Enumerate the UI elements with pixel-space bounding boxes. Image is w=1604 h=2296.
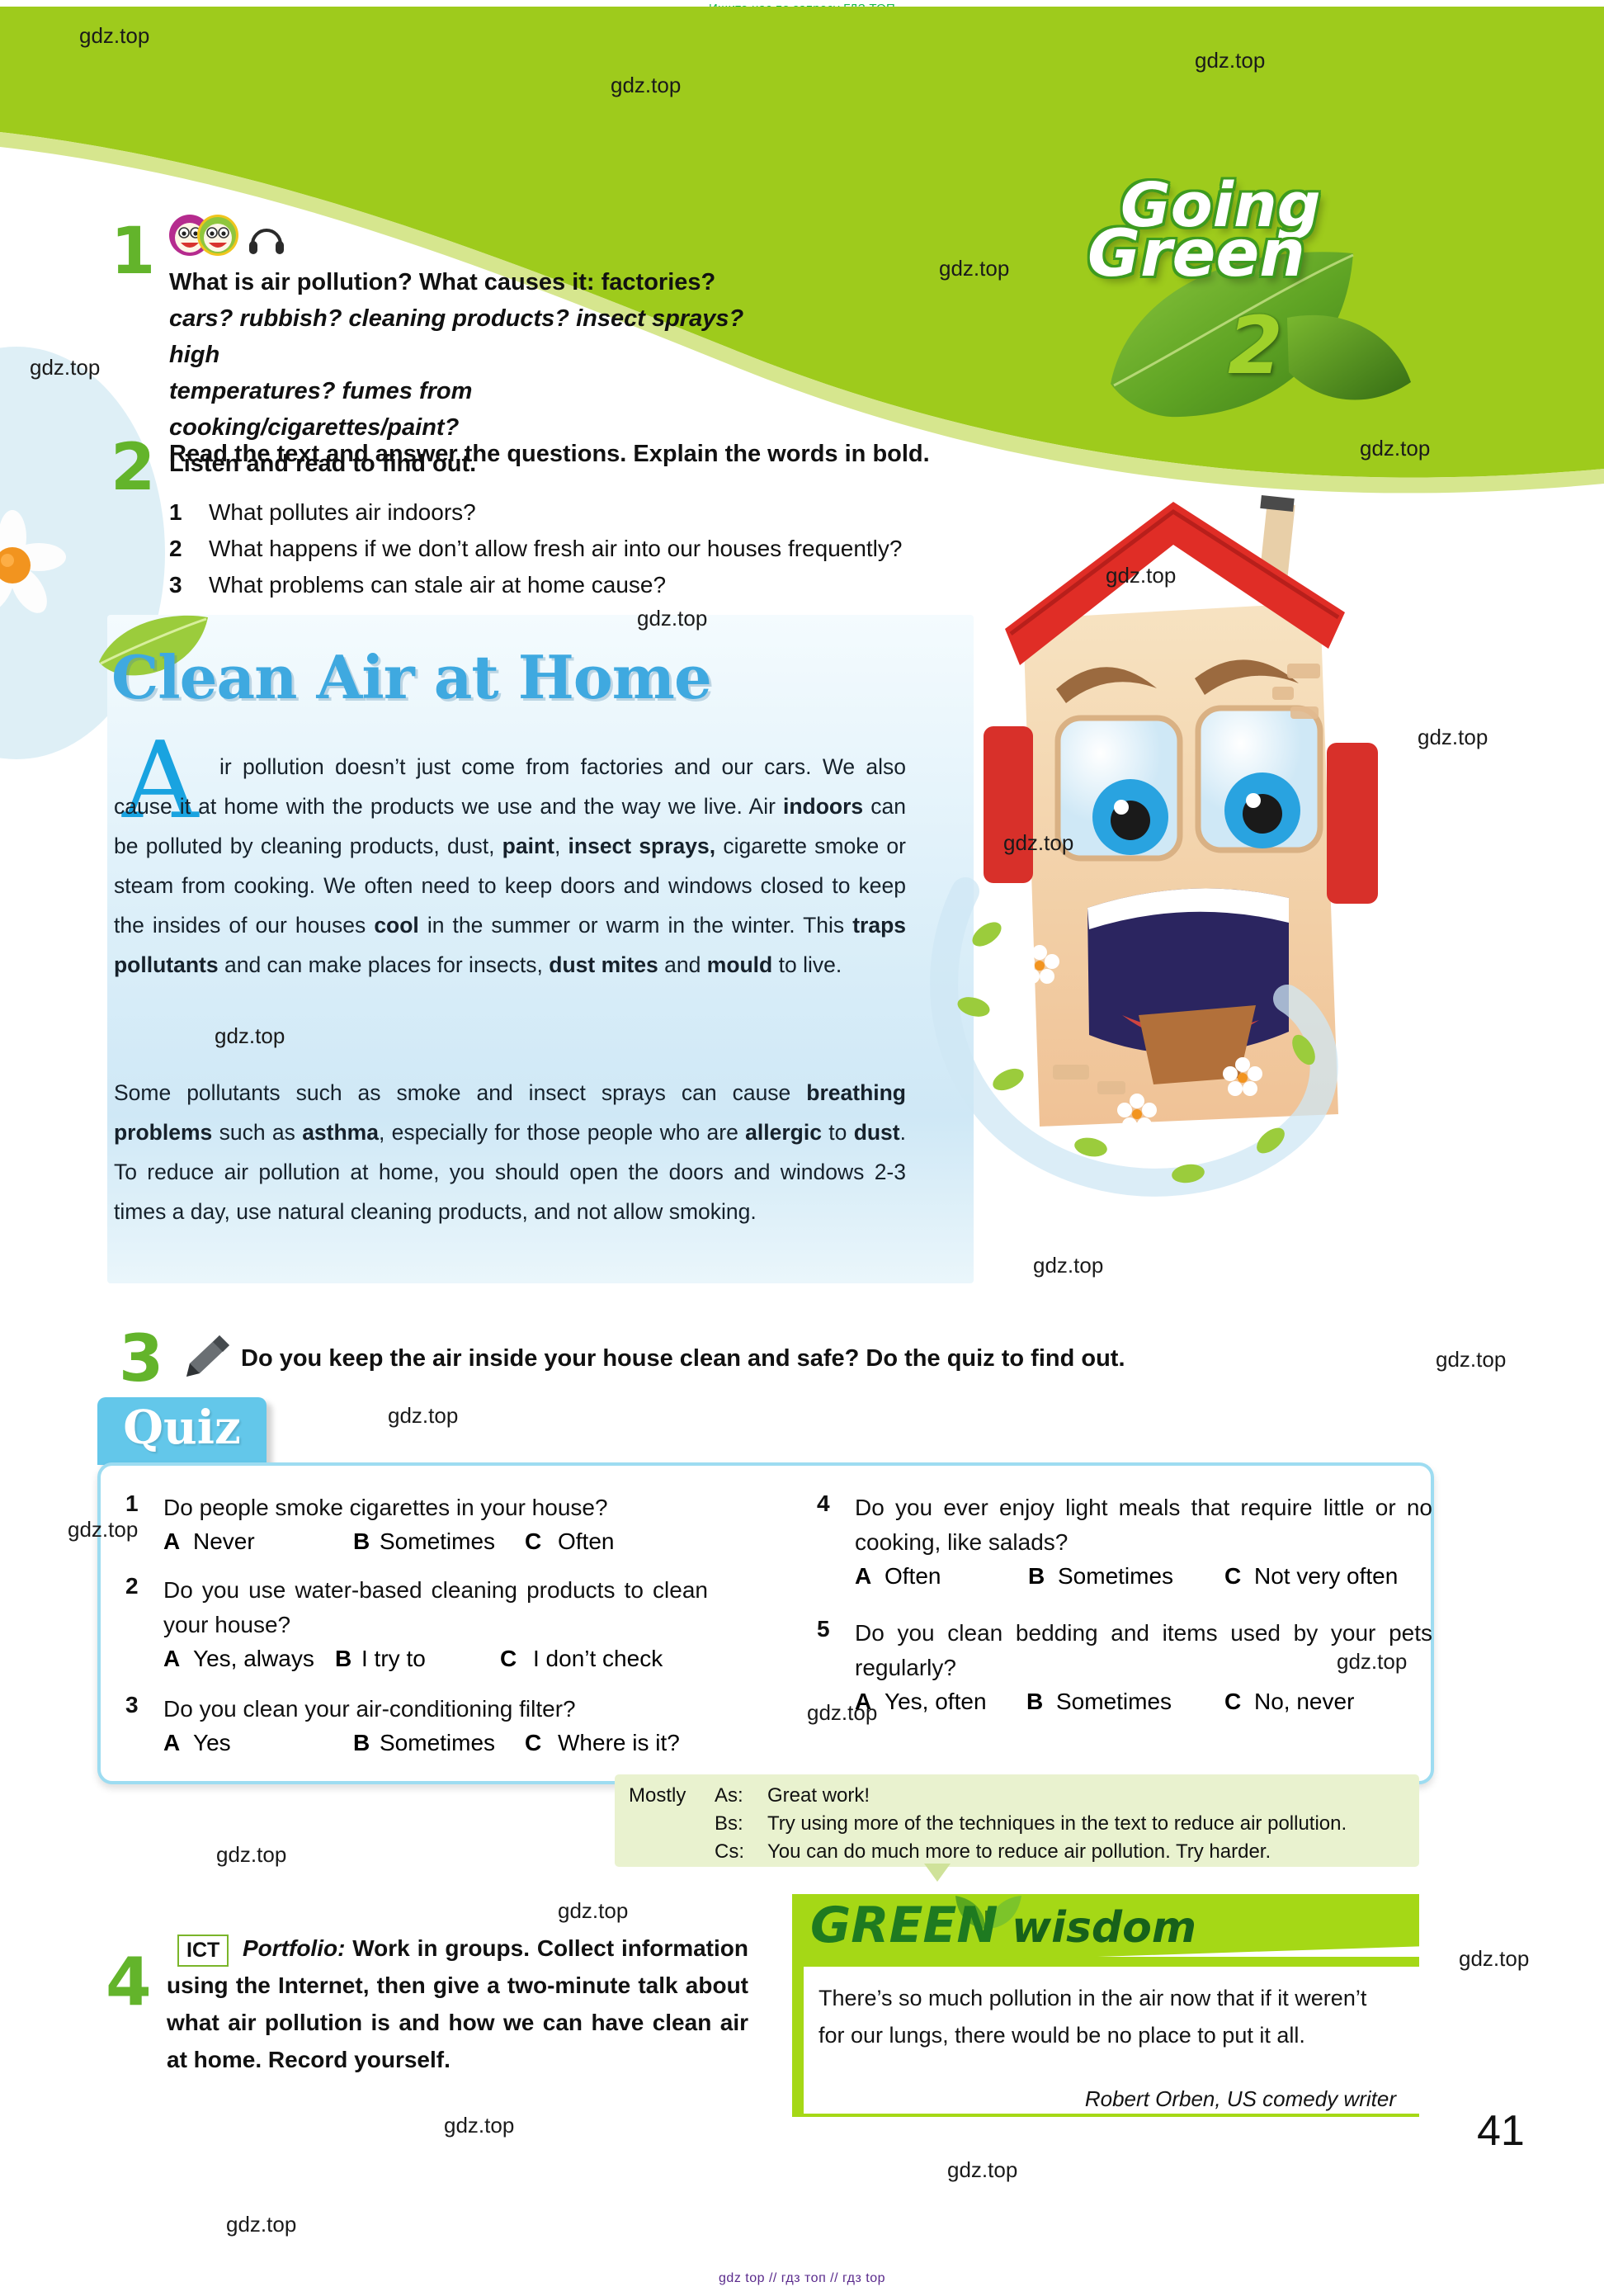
- quiz-option-letter[interactable]: A: [855, 1689, 871, 1715]
- exercise-4-text: Portfolio: Work in groups. Collect infor…: [167, 1930, 748, 2078]
- quiz-question-number: 2: [125, 1573, 139, 1599]
- quiz-option-label[interactable]: Where is it?: [558, 1730, 680, 1756]
- speaking-faces-icon: [168, 213, 239, 257]
- quiz-option-letter[interactable]: B: [335, 1646, 351, 1672]
- bold-term: asthma: [302, 1120, 379, 1145]
- answer-key-text: Great work!: [767, 1784, 870, 1807]
- green-wisdom-quote: There’s so much pollution in the air now…: [819, 1980, 1388, 2054]
- question-number: 2: [169, 536, 182, 562]
- quiz-option-label[interactable]: Sometimes: [1058, 1563, 1173, 1590]
- watermark: gdz.top: [558, 1898, 628, 1924]
- quiz-tab-label: Quiz: [97, 1401, 267, 1455]
- bold-term: mould: [707, 952, 773, 977]
- exercise-4-number: 4: [106, 1949, 152, 2015]
- unit-title-word-green: Green: [1087, 225, 1305, 285]
- quiz-option-letter[interactable]: A: [163, 1730, 180, 1756]
- quiz-tab: Quiz: [97, 1397, 267, 1465]
- body-run: ,: [554, 834, 568, 858]
- ex1-line-2: cars? rubbish? cleaning products? insect…: [169, 305, 743, 368]
- quiz-option-label[interactable]: Sometimes: [1056, 1689, 1172, 1715]
- quiz-question-number: 4: [817, 1491, 830, 1517]
- quiz-option-letter[interactable]: B: [353, 1730, 370, 1756]
- question-number: 1: [169, 499, 182, 526]
- quiz-option-letter[interactable]: B: [1028, 1563, 1045, 1590]
- body-run: such as: [212, 1120, 302, 1145]
- quiz-option-letter[interactable]: C: [525, 1528, 541, 1555]
- exercise-2-rubric: Read the text and answer the questions. …: [169, 441, 1077, 468]
- quiz-option-letter[interactable]: A: [855, 1563, 871, 1590]
- quiz-option-letter[interactable]: A: [163, 1646, 180, 1672]
- body-run: and: [658, 952, 707, 977]
- quiz-option-letter[interactable]: A: [163, 1528, 180, 1555]
- question-text: What pollutes air indoors?: [209, 499, 476, 526]
- quiz-question-number: 3: [125, 1692, 139, 1718]
- quiz-option-letter[interactable]: C: [1224, 1689, 1241, 1715]
- quiz-answer-key-tail: [924, 1864, 951, 1882]
- body-run: in the summer or warm in the winter. Thi…: [419, 913, 852, 938]
- quiz-question-text: Do you ever enjoy light meals that requi…: [855, 1491, 1432, 1560]
- watermark: gdz.top: [1459, 1946, 1529, 1972]
- quiz-option-letter[interactable]: B: [353, 1528, 370, 1555]
- body-run: and can make places for insects,: [219, 952, 550, 977]
- green-wisdom-title: GREEN wisdom: [810, 1901, 1196, 1950]
- body-run: to: [822, 1120, 854, 1145]
- body-run: to live.: [772, 952, 842, 977]
- green-wisdom-title-green: GREEN: [810, 1897, 998, 1954]
- watermark: gdz.top: [226, 2212, 296, 2237]
- quiz-question-number: 1: [125, 1491, 139, 1517]
- quiz-question-number: 5: [817, 1616, 830, 1642]
- watermark: gdz.top: [388, 1403, 458, 1429]
- body-run: Some pollutants such as smoke and insect…: [114, 1080, 806, 1105]
- watermark: gdz.top: [444, 2113, 514, 2138]
- quiz-option-label[interactable]: Yes, often: [885, 1689, 987, 1715]
- headphones-icon: [248, 220, 285, 256]
- quiz-option-label[interactable]: Never: [193, 1528, 255, 1555]
- quiz-option-label[interactable]: Not very often: [1254, 1563, 1398, 1590]
- green-wisdom-box: GREEN wisdom There’s so much pollution i…: [792, 1894, 1419, 2117]
- answer-key-label: Mostly: [629, 1784, 686, 1807]
- ex1-line-3: temperatures? fumes from cooking/cigaret…: [169, 378, 472, 441]
- green-wisdom-title-dark: wisdom: [1012, 1903, 1196, 1953]
- body-run: , especially for those people who are: [379, 1120, 745, 1145]
- page-number: 41: [1477, 2106, 1525, 2156]
- answer-key-text: Try using more of the techniques in the …: [767, 1812, 1347, 1835]
- ict-badge: ICT: [177, 1935, 229, 1967]
- quiz-option-label[interactable]: Often: [558, 1528, 614, 1555]
- bold-term: paint: [502, 834, 554, 858]
- quiz-option-letter[interactable]: C: [525, 1730, 541, 1756]
- quiz-question-text: Do you use water-based cleaning products…: [163, 1573, 708, 1642]
- unit-number: 2: [1228, 300, 1283, 392]
- question-text: What happens if we don’t allow fresh air…: [209, 536, 902, 562]
- bold-term: insect sprays,: [568, 834, 716, 858]
- quiz-option-letter[interactable]: B: [1026, 1689, 1043, 1715]
- watermark: gdz.top: [1436, 1347, 1506, 1372]
- answer-key-code: As:: [715, 1784, 743, 1807]
- green-wisdom-author: Robert Orben, US comedy writer: [819, 2086, 1396, 2112]
- question-text: What problems can stale air at home caus…: [209, 572, 666, 598]
- exercise-1-number: 1: [111, 220, 155, 284]
- quiz-option-label[interactable]: Yes: [193, 1730, 231, 1756]
- bold-term: dust mites: [549, 952, 658, 977]
- quiz-option-label[interactable]: Often: [885, 1563, 941, 1590]
- bold-term: indoors: [783, 794, 863, 819]
- quiz-option-label[interactable]: Sometimes: [380, 1730, 495, 1756]
- quiz-option-label[interactable]: No, never: [1254, 1689, 1354, 1715]
- unit-badge: Going Green 2: [1073, 177, 1419, 392]
- answer-key-code: Cs:: [715, 1840, 744, 1864]
- quiz-question-text: Do people smoke cigarettes in your house…: [163, 1491, 741, 1525]
- quiz-option-label[interactable]: Sometimes: [380, 1528, 495, 1555]
- ex1-line-1: What is air pollution? What causes it: f…: [169, 269, 715, 295]
- question-number: 3: [169, 572, 182, 598]
- exercise-2-number: 2: [111, 436, 155, 500]
- exercise-3-rubric: Do you keep the air inside your house cl…: [241, 1345, 1231, 1372]
- bold-term: cool: [374, 913, 418, 938]
- fresh-air-swirl-decoration: [916, 875, 1345, 1254]
- quiz-option-label[interactable]: I don’t check: [533, 1646, 663, 1672]
- pen-icon: [180, 1330, 233, 1382]
- quiz-option-letter[interactable]: C: [1224, 1563, 1241, 1590]
- article-title: Clean Air at Home: [111, 642, 903, 712]
- unit-title: Going Green: [1073, 177, 1419, 309]
- quiz-option-label[interactable]: Yes, always: [193, 1646, 314, 1672]
- article-paragraph-1: ir pollution doesn’t just come from fact…: [114, 747, 906, 985]
- site-footer: gdz top // гдз топ // гдз top: [0, 2271, 1604, 2286]
- quiz-option-letter[interactable]: C: [500, 1646, 517, 1672]
- watermark: gdz.top: [216, 1842, 286, 1868]
- portfolio-label: Portfolio:: [243, 1935, 345, 1961]
- watermark: gdz.top: [947, 2157, 1017, 2183]
- bold-term: dust: [854, 1120, 900, 1145]
- bold-term: allergic: [745, 1120, 822, 1145]
- quiz-question-text: Do you clean bedding and items used by y…: [855, 1616, 1432, 1685]
- quiz-option-label[interactable]: I try to: [361, 1646, 426, 1672]
- quiz-question-text: Do you clean your air-conditioning filte…: [163, 1692, 741, 1727]
- article-paragraph-2: Some pollutants such as smoke and insect…: [114, 1073, 906, 1231]
- answer-key-text: You can do much more to reduce air pollu…: [767, 1840, 1271, 1864]
- exercise-3-number: 3: [119, 1327, 163, 1391]
- answer-key-code: Bs:: [715, 1812, 743, 1835]
